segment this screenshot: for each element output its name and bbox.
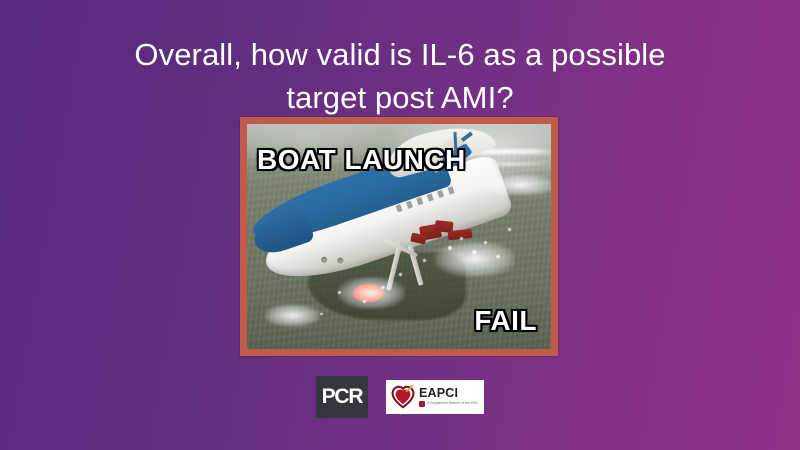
eapci-logo-subtitle: A Registered Branch of the ESC — [427, 402, 478, 406]
eapci-heart-icon — [391, 385, 415, 409]
page-title-line-2: target post AMI? — [80, 77, 720, 120]
pcr-logo-text: PCR — [322, 385, 363, 409]
pcr-logo: PCR — [316, 376, 368, 418]
meme-caption-top: BOAT LAUNCH — [257, 146, 466, 174]
esc-mark-icon — [419, 401, 425, 407]
meme-caption-bottom: FAIL — [474, 307, 537, 335]
meme-image: BOAT LAUNCH FAIL — [247, 124, 551, 349]
image-panel: BOAT LAUNCH FAIL — [240, 117, 558, 356]
eapci-subtitle-row: A Registered Branch of the ESC — [419, 401, 478, 407]
slide-canvas: Overall, how valid is IL-6 as a possible… — [0, 0, 800, 450]
page-title: Overall, how valid is IL-6 as a possible… — [80, 34, 720, 120]
eapci-text-block: EAPCI A Registered Branch of the ESC — [419, 387, 478, 408]
eapci-logo: EAPCI A Registered Branch of the ESC — [386, 380, 484, 414]
logo-row: PCR EAPCI A Registered Branch of the ESC — [0, 376, 800, 418]
page-title-line-1: Overall, how valid is IL-6 as a possible — [80, 34, 720, 77]
eapci-logo-text: EAPCI — [419, 387, 478, 400]
